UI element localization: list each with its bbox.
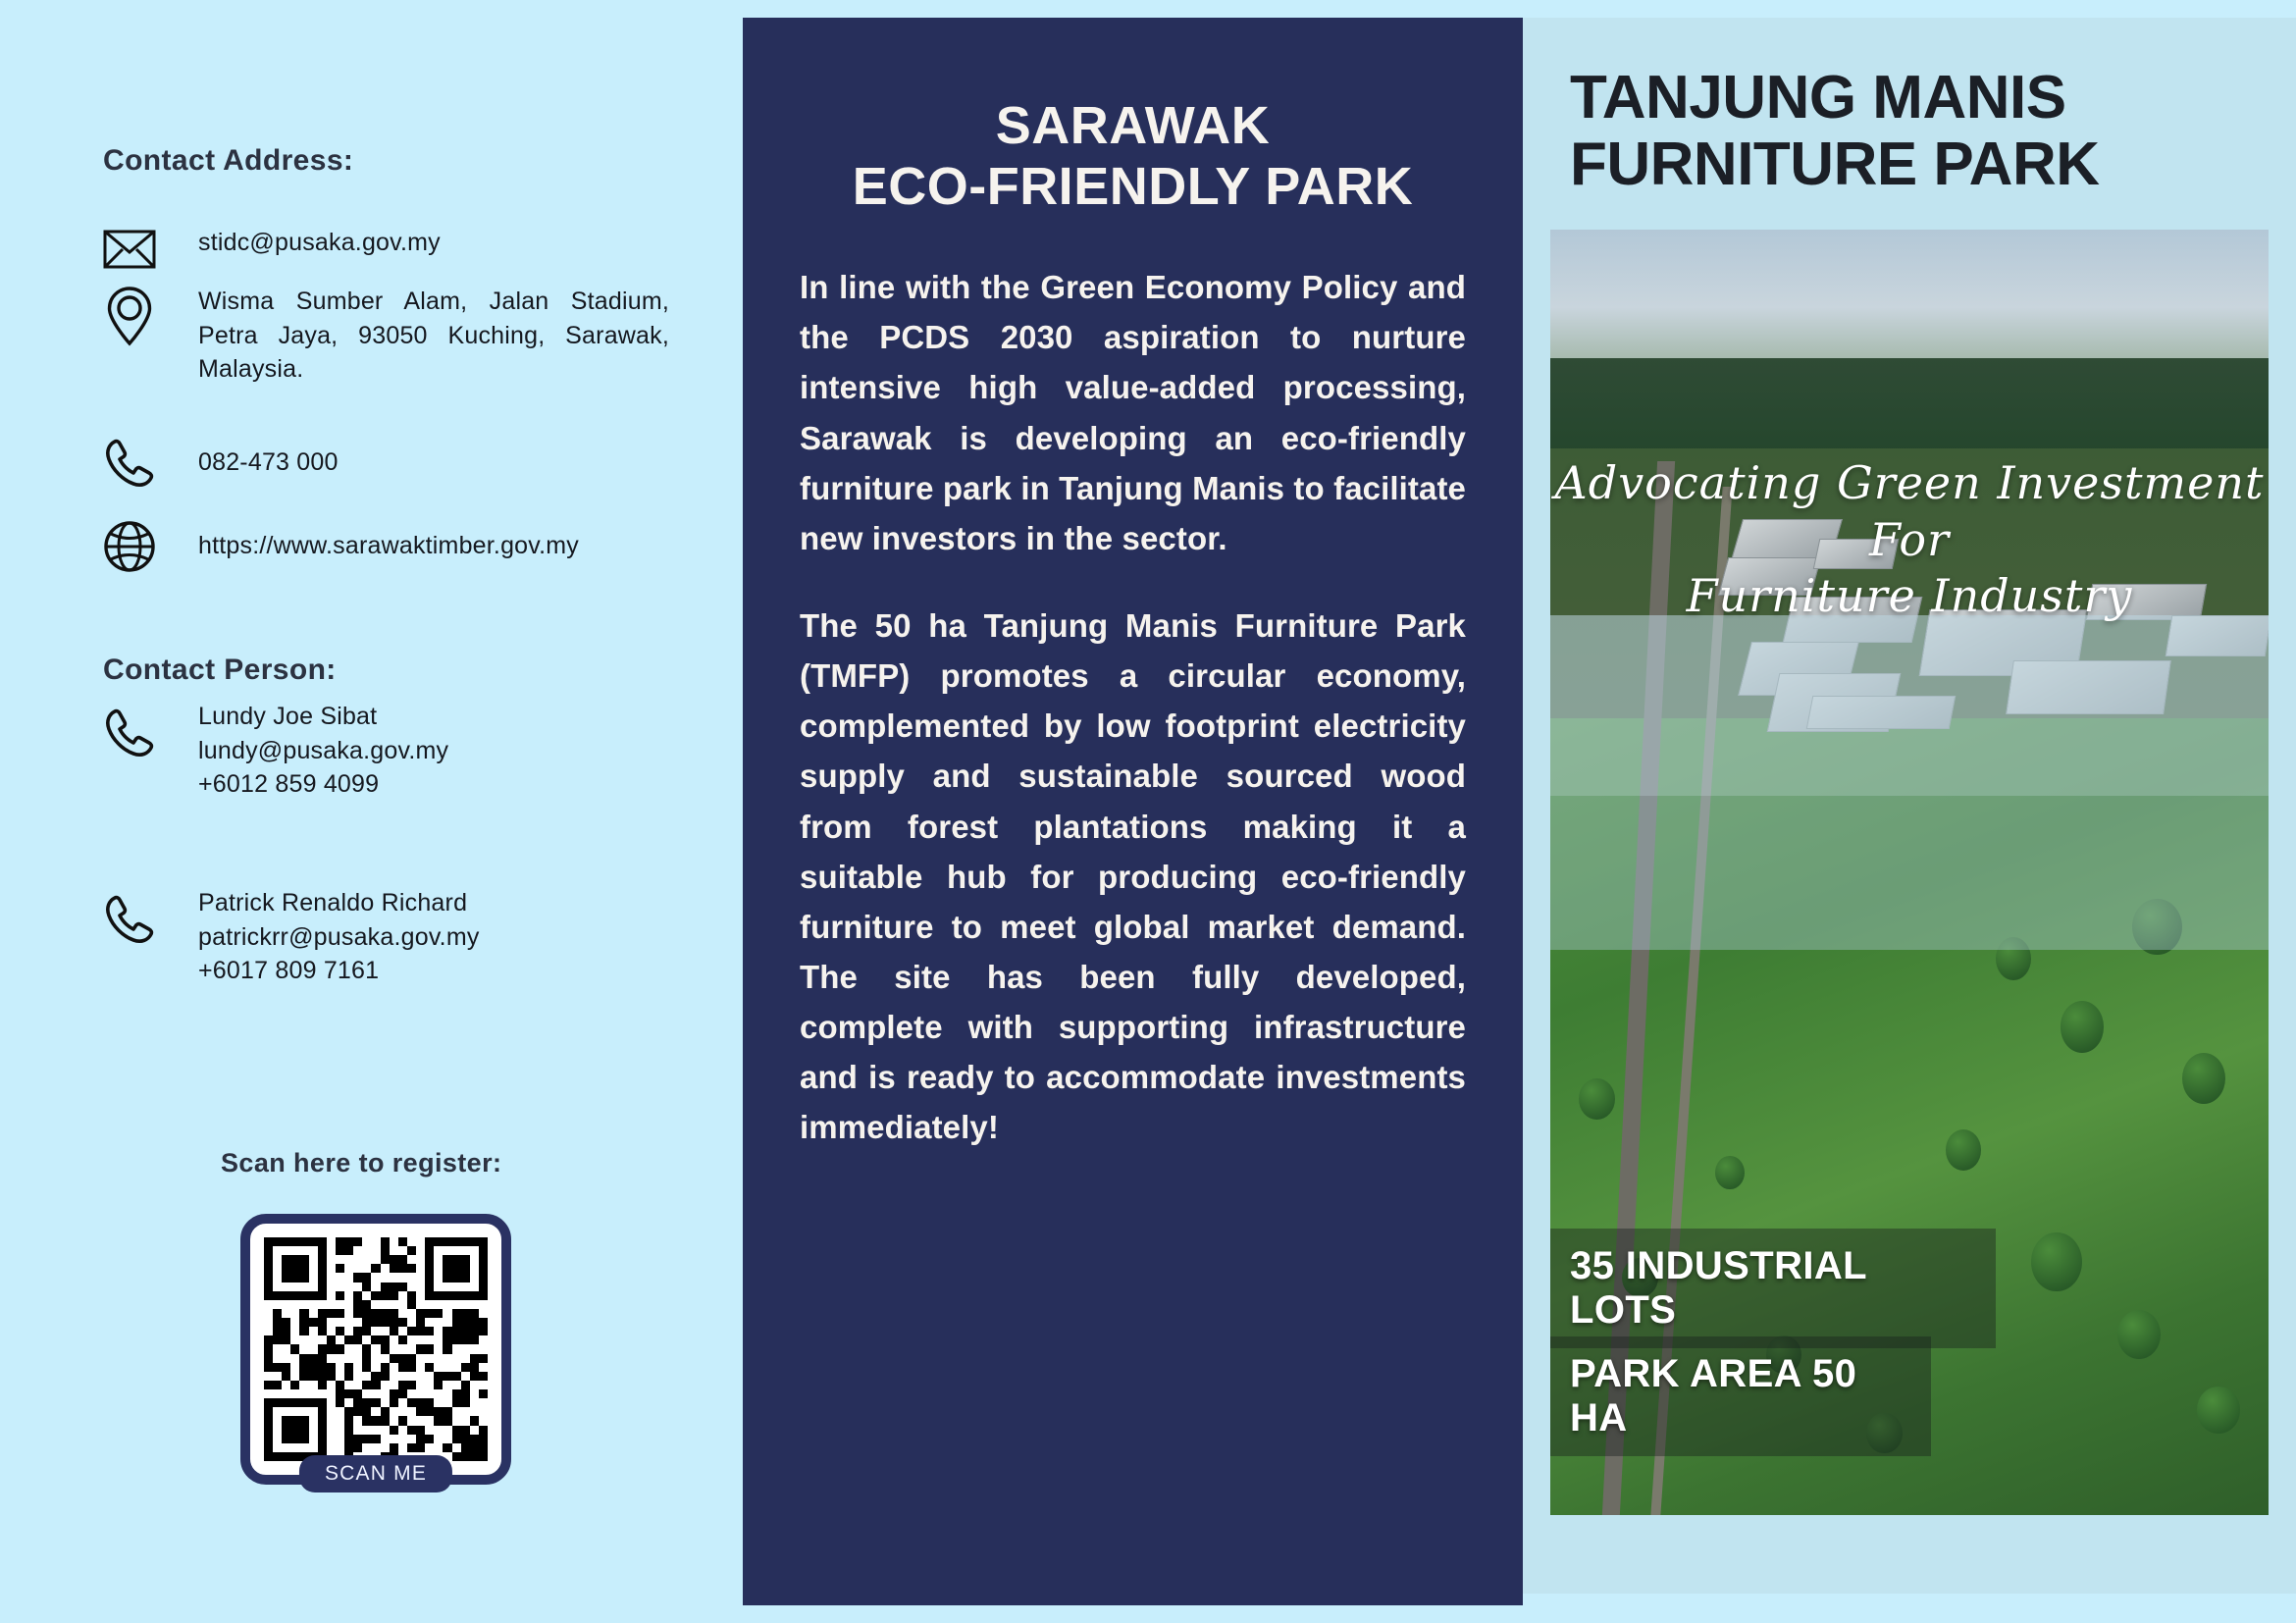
- cover-title-line-1: TANJUNG MANIS: [1570, 64, 2066, 131]
- contact-email-text[interactable]: stidc@pusaka.gov.my: [198, 226, 441, 260]
- photo-tree: [1579, 1078, 1615, 1120]
- cover-panel: TANJUNG MANIS FURNITURE PARK: [1523, 18, 2296, 1594]
- phone-icon: [98, 432, 161, 495]
- center-title-line-1: SARAWAK: [996, 96, 1271, 155]
- contact-person-2: Patrick Renaldo Richard patrickrr@pusaka…: [98, 888, 480, 988]
- contact-phone-text[interactable]: 082-473 000: [198, 445, 339, 480]
- center-title-line-2: ECO-FRIENDLY PARK: [853, 157, 1414, 216]
- eco-park-info-panel: SARAWAK ECO-FRIENDLY PARK In line with t…: [743, 18, 1523, 1605]
- stat-park-area: PARK AREA 50 HA: [1550, 1336, 1931, 1456]
- photo-tree: [2117, 1310, 2161, 1359]
- contact-row-website: https://www.sarawaktimber.gov.my: [98, 515, 579, 578]
- center-paragraph-2: The 50 ha Tanjung Manis Furniture Park (…: [800, 601, 1466, 1153]
- center-panel-title: SARAWAK ECO-FRIENDLY PARK: [800, 96, 1466, 217]
- contact-address-heading: Contact Address:: [103, 144, 353, 178]
- contact-person-2-email[interactable]: patrickrr@pusaka.gov.my: [198, 920, 480, 955]
- center-paragraph-1: In line with the Green Economy Policy an…: [800, 262, 1466, 563]
- photo-tree: [2031, 1232, 2081, 1291]
- contact-person-heading: Contact Person:: [103, 654, 337, 687]
- phone-icon: [98, 888, 161, 951]
- photo-caption-line-1: Advocating Green Investment For: [1550, 455, 2269, 568]
- scan-to-register-heading: Scan here to register:: [221, 1148, 501, 1178]
- contact-address-text: Wisma Sumber Alam, Jalan Stadium, Petra …: [198, 285, 669, 387]
- contact-person-2-name: Patrick Renaldo Richard: [198, 886, 480, 920]
- contact-person-2-details: Patrick Renaldo Richard patrickrr@pusaka…: [198, 886, 480, 988]
- photo-sky-layer: [1550, 230, 2269, 371]
- photo-haze-band: [1550, 615, 2269, 795]
- scan-me-badge: SCAN ME: [299, 1455, 452, 1492]
- qr-code[interactable]: SCAN ME: [240, 1214, 511, 1485]
- photo-tree: [2197, 1387, 2240, 1433]
- map-pin-icon: [98, 285, 161, 347]
- phone-icon: [98, 702, 161, 764]
- contact-panel: Contact Address: stidc@pusaka.gov.my Wis…: [0, 0, 743, 1623]
- globe-icon: [98, 515, 161, 578]
- contact-person-1-name: Lundy Joe Sibat: [198, 700, 448, 734]
- envelope-icon: [98, 218, 161, 281]
- photo-tree: [2182, 1053, 2225, 1104]
- photo-tree: [1715, 1156, 1744, 1189]
- contact-row-email: stidc@pusaka.gov.my: [98, 218, 441, 281]
- photo-caption-line-2: Furniture Industry: [1550, 568, 2269, 625]
- cover-title-line-2: FURNITURE PARK: [1570, 131, 2100, 198]
- contact-person-1-details: Lundy Joe Sibat lundy@pusaka.gov.my +601…: [198, 700, 448, 802]
- photo-caption: Advocating Green Investment For Furnitur…: [1550, 455, 2269, 625]
- contact-person-1-email[interactable]: lundy@pusaka.gov.my: [198, 734, 448, 768]
- contact-row-address: Wisma Sumber Alam, Jalan Stadium, Petra …: [98, 285, 669, 387]
- photo-tree: [1946, 1129, 1982, 1171]
- cover-title: TANJUNG MANIS FURNITURE PARK: [1523, 18, 2296, 198]
- contact-website-text[interactable]: https://www.sarawaktimber.gov.my: [198, 529, 579, 563]
- center-panel-body: In line with the Green Economy Policy an…: [800, 262, 1466, 1152]
- contact-row-phone: 082-473 000: [98, 432, 339, 495]
- stat-industrial-lots: 35 INDUSTRIAL LOTS: [1550, 1229, 1996, 1348]
- contact-person-1: Lundy Joe Sibat lundy@pusaka.gov.my +601…: [98, 702, 448, 802]
- photo-haze-band: [1550, 796, 2269, 950]
- contact-person-1-phone[interactable]: +6012 859 4099: [198, 767, 448, 802]
- photo-tree: [2061, 1001, 2104, 1052]
- contact-person-2-phone[interactable]: +6017 809 7161: [198, 954, 480, 988]
- photo-far-forest-layer: [1550, 358, 2269, 461]
- aerial-photo: Advocating Green Investment For Furnitur…: [1550, 230, 2269, 1515]
- brochure-page: Contact Address: stidc@pusaka.gov.my Wis…: [0, 0, 2296, 1623]
- qr-code-matrix: [264, 1237, 488, 1461]
